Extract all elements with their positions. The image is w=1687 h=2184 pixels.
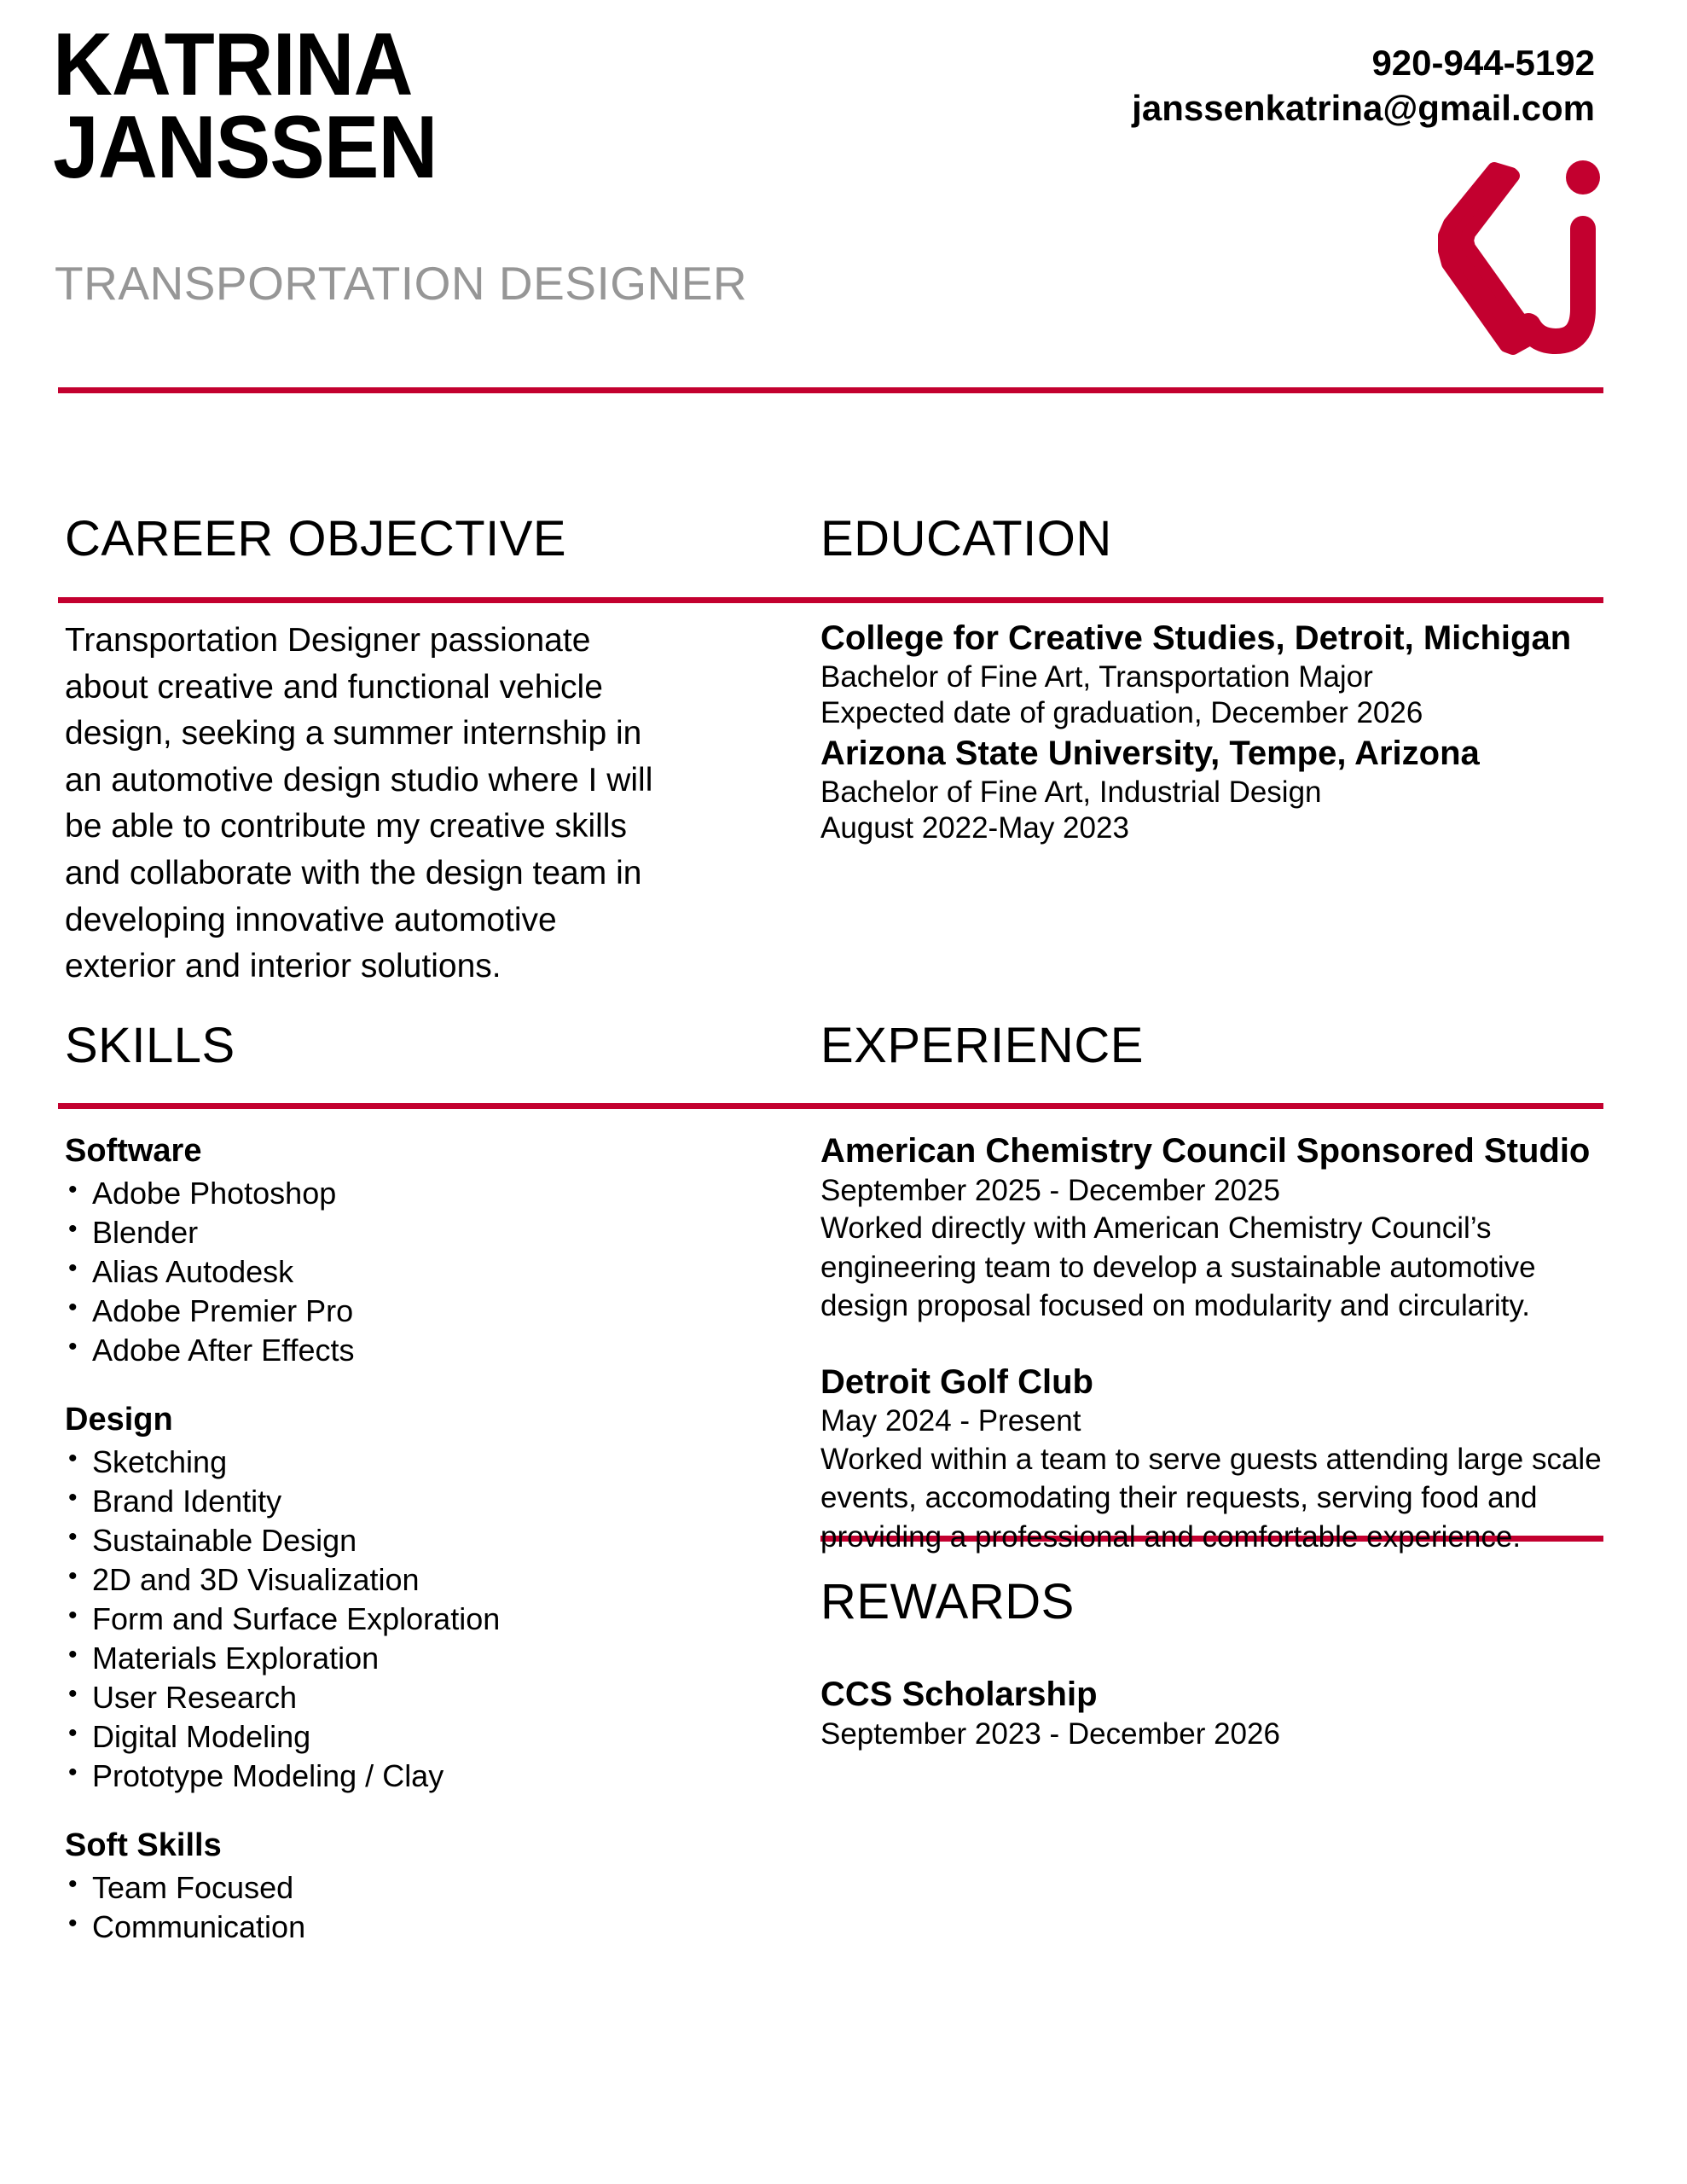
reward-entry: CCS Scholarship September 2023 - Decembe… [820, 1674, 1614, 1752]
skill-group-software: Software Adobe Photoshop Blender Alias A… [65, 1130, 662, 1370]
list-item: Prototype Modeling / Clay [65, 1757, 662, 1796]
list-item: Adobe Photoshop [65, 1174, 662, 1213]
list-item: Team Focused [65, 1868, 662, 1908]
experience-list: American Chemistry Council Sponsored Stu… [820, 1130, 1614, 1592]
section-heading-education: EDUCATION [820, 510, 1112, 567]
education-entry: Arizona State University, Tempe, Arizona… [820, 733, 1614, 846]
skill-group-title: Soft Skills [65, 1825, 662, 1867]
job-title-subtitle: TRANSPORTATION DESIGNER [55, 256, 747, 311]
reward-title: CCS Scholarship [820, 1674, 1614, 1716]
education-degree: Bachelor of Fine Art, Transportation Maj… [820, 659, 1614, 695]
reward-dates: September 2023 - December 2026 [820, 1716, 1614, 1752]
skill-items: Sketching Brand Identity Sustainable Des… [65, 1443, 662, 1797]
section-heading-skills: SKILLS [65, 1017, 235, 1074]
contact-info: 920-944-5192 janssenkatrina@gmail.com [1132, 41, 1595, 131]
section-heading-experience: EXPERIENCE [820, 1017, 1144, 1074]
experience-entry: American Chemistry Council Sponsored Stu… [820, 1130, 1614, 1326]
experience-title: American Chemistry Council Sponsored Stu… [820, 1130, 1614, 1172]
education-school: Arizona State University, Tempe, Arizona [820, 733, 1614, 775]
resume-page: KATRINA JANSSEN TRANSPORTATION DESIGNER … [0, 0, 1687, 2184]
education-dates: August 2022-May 2023 [820, 810, 1614, 846]
name-last-line: JANSSEN [53, 107, 608, 189]
skills-list: Software Adobe Photoshop Blender Alias A… [65, 1130, 662, 1947]
experience-dates: September 2025 - December 2025 [820, 1172, 1614, 1209]
skill-group-soft-skills: Soft Skills Team Focused Communication [65, 1825, 662, 1947]
list-item: Communication [65, 1908, 662, 1947]
skill-group-title: Software [65, 1130, 662, 1172]
list-item: Brand Identity [65, 1482, 662, 1521]
list-item: Form and Surface Exploration [65, 1600, 662, 1639]
name-first-line: KATRINA [53, 24, 608, 107]
experience-description: Worked within a team to serve guests att… [820, 1440, 1614, 1557]
experience-description: Worked directly with American Chemistry … [820, 1209, 1614, 1326]
experience-entry: Detroit Golf Club May 2024 - Present Wor… [820, 1362, 1614, 1557]
experience-dates: May 2024 - Present [820, 1403, 1614, 1439]
list-item: Adobe After Effects [65, 1331, 662, 1370]
candidate-name: KATRINA JANSSEN [53, 24, 650, 189]
rewards-list: CCS Scholarship September 2023 - Decembe… [820, 1674, 1614, 1752]
skill-items: Team Focused Communication [65, 1868, 662, 1947]
list-item: Sketching [65, 1443, 662, 1482]
list-item: Digital Modeling [65, 1717, 662, 1757]
education-list: College for Creative Studies, Detroit, M… [820, 618, 1614, 848]
header-divider-rule [58, 387, 1603, 393]
top-section-divider-rule [58, 597, 1603, 603]
list-item: Blender [65, 1213, 662, 1252]
education-entry: College for Creative Studies, Detroit, M… [820, 618, 1614, 731]
skill-group-design: Design Sketching Brand Identity Sustaina… [65, 1399, 662, 1796]
education-school: College for Creative Studies, Detroit, M… [820, 618, 1614, 659]
skill-group-title: Design [65, 1399, 662, 1441]
list-item: User Research [65, 1678, 662, 1717]
list-item: Sustainable Design [65, 1521, 662, 1560]
resume-header: KATRINA JANSSEN TRANSPORTATION DESIGNER … [0, 0, 1687, 401]
career-objective-body: Transportation Designer passionate about… [65, 618, 662, 990]
kj-monogram-logo-icon [1438, 159, 1609, 372]
mid-section-divider-rule [58, 1103, 1603, 1109]
email-address[interactable]: janssenkatrina@gmail.com [1132, 86, 1595, 131]
list-item: Adobe Premier Pro [65, 1292, 662, 1331]
experience-title: Detroit Golf Club [820, 1362, 1614, 1403]
phone-number[interactable]: 920-944-5192 [1132, 41, 1595, 86]
education-degree: Bachelor of Fine Art, Industrial Design [820, 775, 1614, 810]
list-item: Alias Autodesk [65, 1252, 662, 1292]
list-item: 2D and 3D Visualization [65, 1560, 662, 1600]
section-heading-career-objective: CAREER OBJECTIVE [65, 510, 566, 567]
list-item: Materials Exploration [65, 1639, 662, 1678]
skill-items: Adobe Photoshop Blender Alias Autodesk A… [65, 1174, 662, 1370]
education-dates: Expected date of graduation, December 20… [820, 695, 1614, 731]
